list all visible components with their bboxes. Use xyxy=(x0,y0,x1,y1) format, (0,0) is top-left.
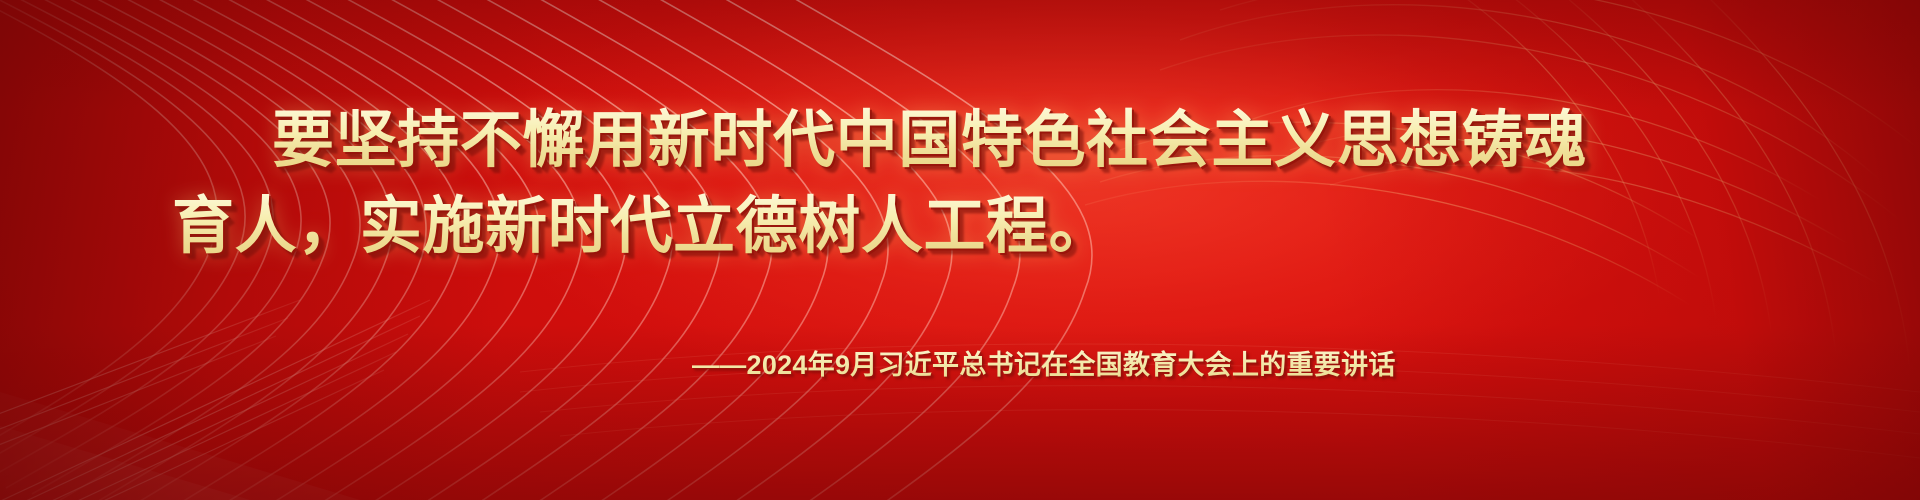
banner-text-block: 要坚持不懈用新时代中国特色社会主义思想铸魂 育人，实施新时代立德树人工程。 ——… xyxy=(0,0,1920,500)
propaganda-banner: 要坚持不懈用新时代中国特色社会主义思想铸魂 育人，实施新时代立德树人工程。 ——… xyxy=(0,0,1920,500)
headline-line-1: 要坚持不懈用新时代中国特色社会主义思想铸魂 xyxy=(272,106,1587,176)
headline-line-2: 育人，实施新时代立德树人工程。 xyxy=(172,192,1111,262)
attribution-text: ——2024年9月习近平总书记在全国教育大会上的重要讲话 xyxy=(692,346,1396,384)
